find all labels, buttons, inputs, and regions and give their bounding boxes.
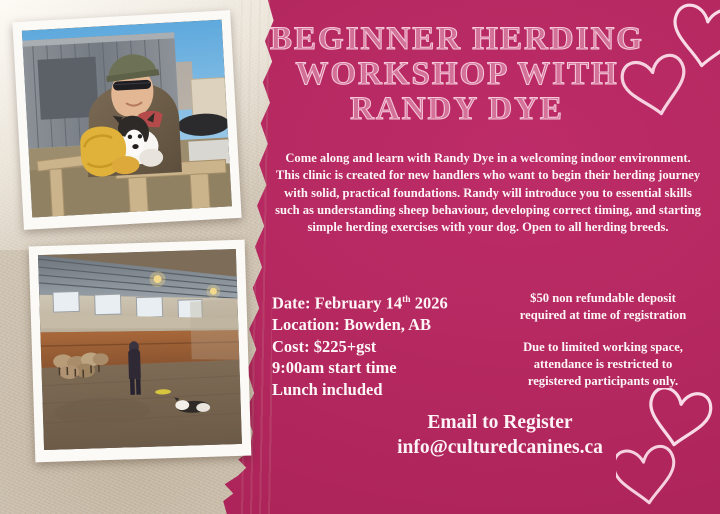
detail-date: Date: February 14th 2026 (272, 290, 492, 314)
space-notice-line-3: registered participants only. (494, 373, 712, 390)
photo-man-with-puppy-image (22, 20, 232, 218)
poster-title: Beginner Herding Workshop With Randy Dye (252, 22, 662, 127)
title-line-3: Randy Dye (252, 92, 662, 127)
register-email-address[interactable]: info@culturedcanines.ca (300, 435, 700, 461)
detail-lunch: Lunch included (272, 379, 492, 401)
detail-cost: Cost: $225+gst (272, 336, 492, 358)
title-line-1: Beginner Herding (252, 22, 662, 57)
event-details-list: Date: February 14th 2026 Location: Bowde… (272, 290, 492, 400)
photo-indoor-arena-image (38, 249, 242, 450)
heart-icon (655, 0, 717, 1)
poster-canvas: Beginner Herding Workshop With Randy Dye… (0, 0, 720, 514)
register-contact-block: Email to Register info@culturedcanines.c… (300, 410, 700, 461)
heart-icon (669, 3, 720, 70)
title-line-2: Workshop With (252, 57, 662, 92)
register-heading: Email to Register (300, 410, 700, 435)
detail-start-time: 9:00am start time (272, 357, 492, 379)
deposit-notice-line-1: $50 non refundable deposit (494, 290, 712, 307)
deposit-notice-line-2: required at time of registration (494, 307, 712, 324)
body-paragraph: Come along and learn with Randy Dye in a… (272, 150, 704, 236)
detail-location: Location: Bowden, AB (272, 314, 492, 336)
detail-date-superscript: th (402, 295, 410, 305)
notice-spacer (494, 324, 712, 339)
space-notice-line-2: attendance is restricted to (494, 356, 712, 373)
photo-indoor-arena (29, 240, 252, 463)
detail-date-text: Date: February 14 (272, 294, 402, 313)
detail-date-year: 2026 (411, 294, 448, 313)
space-notice-line-1: Due to limited working space, (494, 339, 712, 356)
photo-man-with-puppy (12, 10, 241, 230)
registration-notices: $50 non refundable deposit required at t… (494, 290, 712, 390)
